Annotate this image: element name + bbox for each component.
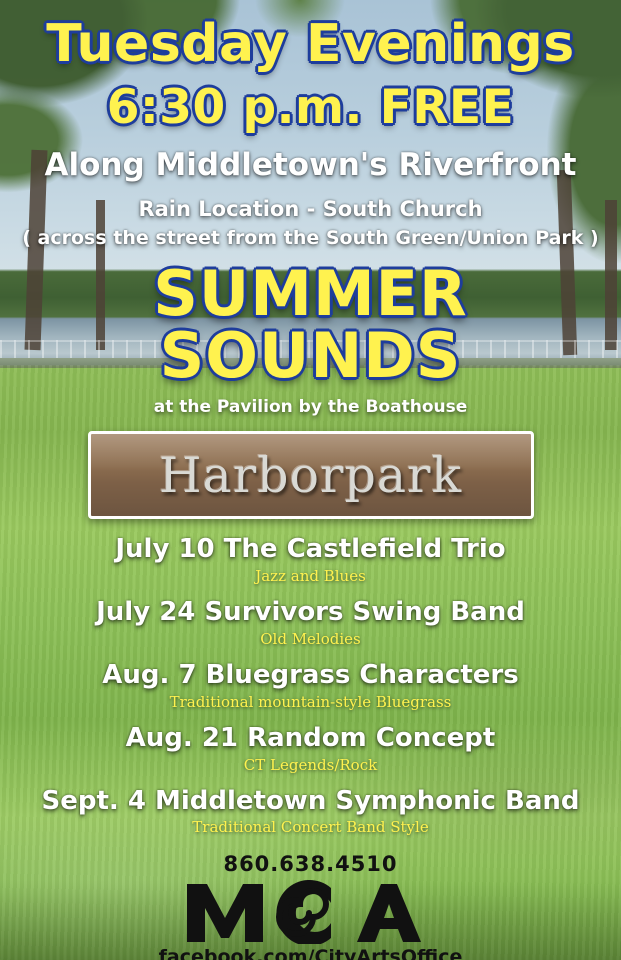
schedule-item-title: Sept. 4 Middletown Symphonic Band (0, 787, 621, 817)
headline-time-free: 6:30 p.m. FREE (0, 70, 621, 131)
schedule-item-genre: Traditional mountain-style Bluegrass (0, 691, 621, 719)
mca-logo (181, 878, 441, 944)
harborpark-sign-text: Harborpark (159, 451, 462, 500)
mca-logo-icon (181, 878, 441, 944)
schedule-item: July 10 The Castlefield Trio Jazz and Bl… (0, 535, 621, 593)
schedule-item-title: July 24 Survivors Swing Band (0, 598, 621, 628)
facebook-handle: facebook.com/CityArtsOffice (0, 946, 621, 960)
concert-schedule: July 10 The Castlefield Trio Jazz and Bl… (0, 535, 621, 844)
schedule-item: Aug. 21 Random Concept CT Legends/Rock (0, 724, 621, 782)
schedule-item-genre: Old Melodies (0, 628, 621, 656)
location-line: Along Middletown's Riverfront (0, 131, 621, 183)
schedule-item-genre: Jazz and Blues (0, 565, 621, 593)
schedule-item-genre: CT Legends/Rock (0, 754, 621, 782)
schedule-item: Aug. 7 Bluegrass Characters Traditional … (0, 661, 621, 719)
summer-sounds-poster: Tuesday Evenings 6:30 p.m. FREE Along Mi… (0, 0, 621, 960)
schedule-item: July 24 Survivors Swing Band Old Melodie… (0, 598, 621, 656)
poster-content: Tuesday Evenings 6:30 p.m. FREE Along Mi… (0, 0, 621, 960)
phone-number: 860.638.4510 (0, 852, 621, 876)
harborpark-sign: Harborpark (88, 431, 534, 519)
headline-tuesday-evenings: Tuesday Evenings (0, 0, 621, 70)
schedule-item-title: July 10 The Castlefield Trio (0, 535, 621, 565)
series-title: SUMMER SOUNDS (0, 249, 621, 387)
schedule-item: Sept. 4 Middletown Symphonic Band Tradit… (0, 787, 621, 845)
rain-location-line: Rain Location - South Church (0, 183, 621, 221)
schedule-item-genre: Traditional Concert Band Style (0, 816, 621, 844)
rain-location-detail: ( across the street from the South Green… (0, 221, 621, 249)
schedule-item-title: Aug. 21 Random Concept (0, 724, 621, 754)
schedule-item-title: Aug. 7 Bluegrass Characters (0, 661, 621, 691)
